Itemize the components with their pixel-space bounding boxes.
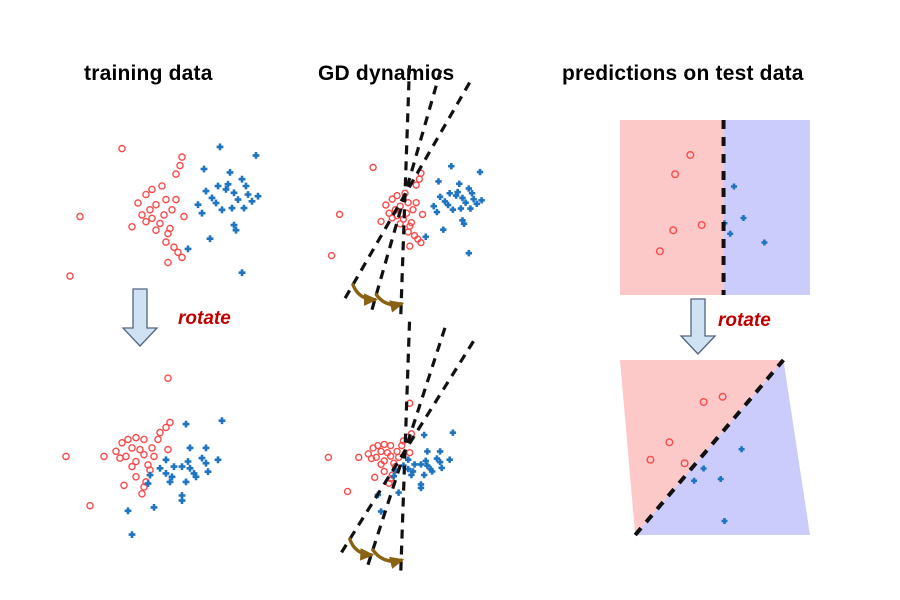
data-point-class-0 [381,468,387,474]
data-point-class-1 [227,169,234,176]
data-point-class-0 [143,219,149,225]
data-point-class-1 [201,166,208,173]
data-point-class-0 [135,200,141,206]
data-point-class-1 [183,479,190,486]
data-point-class-1 [179,497,186,504]
scatter-red-group [67,146,187,280]
data-point-class-1 [129,531,136,538]
data-point-class-1 [466,250,472,256]
data-point-class-0 [147,207,153,213]
gd-dynamics-before [300,100,510,310]
column-title-training-data: training data [84,62,213,86]
data-point-class-0 [165,259,171,265]
arrow-shape [123,289,157,346]
data-point-class-0 [117,455,123,461]
data-point-class-0 [87,503,93,509]
data-point-class-1 [431,203,437,209]
data-point-class-0 [179,154,185,160]
data-point-class-1 [243,183,250,190]
data-point-class-0 [149,445,155,451]
data-point-class-0 [157,430,163,436]
data-point-class-0 [139,212,145,218]
data-point-class-0 [370,164,376,170]
data-point-class-0 [381,441,387,447]
data-point-class-0 [133,474,139,480]
data-point-class-0 [129,464,135,470]
decision-region-map-after [620,360,810,535]
data-point-class-0 [123,453,129,459]
data-point-class-0 [153,202,159,208]
data-point-class-0 [378,448,384,454]
data-point-class-1 [215,456,222,463]
data-point-class-0 [329,253,335,259]
data-point-class-0 [413,182,419,188]
boundary-line-0 [401,64,410,314]
data-point-class-0 [407,450,413,456]
region-fills [620,360,810,535]
data-point-class-0 [420,211,426,217]
data-point-class-0 [129,224,135,230]
data-point-class-1 [213,200,220,207]
scatter-red-group [325,400,414,494]
data-point-class-1 [423,234,429,240]
data-point-class-0 [121,482,127,488]
data-point-class-0 [173,197,179,203]
column-title-test-predictions: predictions on test data [562,62,804,86]
panel-gd-before [300,100,510,310]
data-point-class-1 [187,445,194,452]
data-point-class-1 [239,269,246,276]
data-point-class-0 [141,436,147,442]
data-point-class-0 [157,220,163,226]
data-point-class-1 [209,195,216,202]
data-point-class-0 [163,197,169,203]
data-point-class-1 [185,246,192,253]
down-block-arrow-icon [678,298,718,356]
data-point-class-1 [241,205,248,212]
rotate-arrow-right [678,298,718,356]
boundary-line-1 [372,69,441,309]
data-point-class-0 [179,254,185,260]
scatter-blue-group [125,417,226,538]
data-point-class-1 [424,448,430,454]
data-point-class-1 [253,152,260,159]
data-point-class-0 [63,453,69,459]
rotate-label-left: rotate [178,308,231,330]
data-point-class-1 [411,461,417,467]
data-point-class-0 [119,440,125,446]
down-block-arrow-icon [120,288,160,348]
data-point-class-1 [163,456,170,463]
data-point-class-0 [413,200,419,206]
data-point-class-0 [161,212,167,218]
data-point-class-1 [171,463,178,470]
data-point-class-0 [153,227,159,233]
panel-test-before [620,120,810,295]
data-point-class-1 [437,448,443,454]
boundary-line-1 [368,327,445,565]
data-point-class-0 [143,191,149,197]
data-point-class-0 [159,183,165,189]
arrow-shape [681,299,715,354]
data-point-class-1 [245,191,252,198]
data-point-class-1 [446,457,452,463]
data-point-class-1 [239,176,246,183]
data-point-class-0 [389,196,395,202]
data-point-class-1 [203,445,210,452]
data-point-class-1 [440,226,446,232]
data-point-class-1 [207,235,214,242]
data-point-class-1 [163,470,170,477]
data-point-class-1 [179,463,186,470]
rotation-arc-1 [350,539,371,555]
rotation-arc-1 [353,285,375,300]
data-point-class-0 [149,215,155,221]
panel-train-after [62,368,262,538]
data-point-class-0 [181,214,187,220]
panel-train-before [62,118,262,288]
data-point-class-0 [113,448,119,454]
data-point-class-1 [199,210,206,217]
decision-boundary-lines [345,64,470,314]
data-point-class-1 [448,163,454,169]
data-point-class-0 [119,146,125,152]
data-point-class-0 [325,454,331,460]
decision-region-map-before [620,120,810,295]
data-point-class-0 [125,436,131,442]
data-point-class-1 [151,504,158,511]
rotate-arrow-left [120,288,160,348]
rotation-arc-0 [373,550,401,561]
data-point-class-1 [217,144,224,151]
data-point-class-1 [199,455,206,462]
data-point-class-1 [203,188,210,195]
data-point-class-0 [345,488,351,494]
gd-dynamics-after [300,350,510,560]
data-point-class-0 [173,171,179,177]
data-point-class-1 [434,209,440,215]
data-point-class-0 [388,443,394,449]
data-point-class-0 [394,448,400,454]
data-point-class-1 [229,205,236,212]
data-point-class-1 [421,432,427,438]
panel-gd-after [300,350,510,560]
data-point-class-1 [450,207,456,213]
rotation-arc-0 [376,295,401,305]
data-point-class-1 [185,458,192,465]
data-point-class-0 [165,447,171,453]
data-point-class-1 [219,206,226,213]
data-point-class-1 [477,169,483,175]
data-point-class-1 [450,429,456,435]
data-point-class-1 [219,417,226,424]
data-point-class-1 [446,190,452,196]
data-point-class-1 [195,201,202,208]
data-point-class-1 [255,193,262,200]
data-point-class-0 [416,176,422,182]
panel-test-after [620,360,810,535]
data-point-class-0 [151,453,157,459]
data-point-class-1 [203,460,210,467]
data-point-class-0 [405,229,411,235]
rotate-label-right: rotate [718,310,771,332]
data-point-class-0 [169,207,175,213]
region-class-1 [724,120,810,295]
data-point-class-1 [235,196,242,203]
data-point-class-0 [407,243,413,249]
data-point-class-1 [215,183,222,190]
region-class-0 [620,120,724,295]
data-point-class-1 [456,181,462,187]
scatter-train-after [62,368,262,538]
data-point-class-0 [67,273,73,279]
data-point-class-0 [129,445,135,451]
data-point-class-1 [249,198,256,205]
data-point-class-0 [378,218,384,224]
data-point-class-1 [435,178,441,184]
decision-boundary-lines [342,321,474,571]
data-point-class-0 [139,491,145,497]
data-point-class-1 [231,189,238,196]
data-point-class-1 [183,421,190,428]
data-point-class-0 [383,202,389,208]
scatter-blue-group [423,163,485,256]
scatter-train-before [62,118,262,288]
data-point-class-1 [395,489,401,495]
data-point-class-1 [187,465,194,472]
data-point-class-0 [155,436,161,442]
data-point-class-1 [439,465,445,471]
data-point-class-0 [149,186,155,192]
data-point-class-0 [372,474,378,480]
scatter-blue-group [185,144,262,277]
data-point-class-0 [165,375,171,381]
data-point-class-1 [145,480,152,487]
data-point-class-1 [421,472,427,478]
data-point-class-0 [141,452,147,458]
data-point-class-0 [356,454,362,460]
data-point-class-1 [458,205,464,211]
figure-canvas: training data GD dynamics predictions on… [0,0,900,600]
data-point-class-1 [205,468,212,475]
column-title-gd-dynamics: GD dynamics [318,62,454,86]
data-point-class-0 [163,239,169,245]
data-point-class-0 [337,211,343,217]
data-point-class-0 [77,214,83,220]
data-point-class-1 [157,465,164,472]
data-point-class-1 [125,507,132,514]
data-point-class-0 [177,163,183,169]
data-point-class-1 [467,205,473,211]
region-fills [620,120,810,295]
data-point-class-0 [101,453,107,459]
data-point-class-1 [437,194,443,200]
data-point-class-0 [133,435,139,441]
scatter-red-group [63,375,173,509]
data-point-class-0 [163,424,169,430]
data-point-class-0 [410,207,416,213]
